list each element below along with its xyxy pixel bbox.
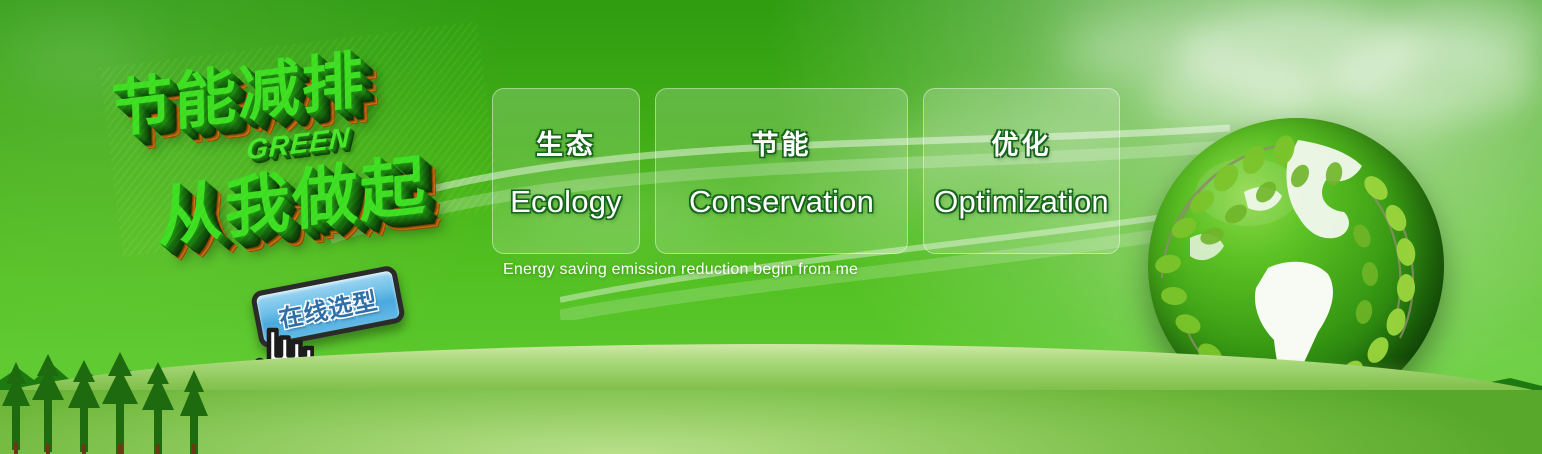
cloud-icon bbox=[0, 20, 150, 90]
feature-card-conservation[interactable]: 节能 Conservation bbox=[655, 88, 908, 254]
cloud-icon bbox=[1180, 6, 1420, 102]
feature-card-en-label: Ecology bbox=[510, 184, 622, 220]
feature-card-cn-label: 优化 bbox=[992, 123, 1052, 162]
feature-card-optimization[interactable]: 优化 Optimization bbox=[923, 88, 1120, 254]
feature-card-list: 生态 Ecology 节能 Conservation 优化 Optimizati… bbox=[492, 88, 1120, 254]
feature-card-cn-label: 节能 bbox=[752, 123, 812, 162]
headline-line-1: 节能减排 bbox=[110, 28, 366, 150]
green-leaf-globe-icon bbox=[1148, 118, 1444, 414]
cloud-icon bbox=[1390, 0, 1542, 66]
feature-card-cn-label: 生态 bbox=[536, 123, 596, 162]
hand-pointer-cursor-icon bbox=[248, 324, 314, 396]
feature-card-ecology[interactable]: 生态 Ecology bbox=[492, 88, 640, 254]
headline-artwork: 节能减排 GREEN 从我做起 bbox=[96, 36, 496, 276]
globe-drop-shadow bbox=[1154, 380, 1440, 420]
conifer-tree-group-icon bbox=[0, 350, 230, 454]
headline-texture-overlay bbox=[100, 22, 500, 257]
eco-promo-banner: 节能减排 GREEN 从我做起 在线选型 生态 Ecology 节能 Conse… bbox=[0, 0, 1542, 454]
banner-tagline: Energy saving emission reduction begin f… bbox=[503, 261, 858, 279]
cloud-icon bbox=[1060, 20, 1210, 80]
headline-line-2: 从我做起 bbox=[156, 131, 428, 261]
cloud-icon bbox=[1330, 34, 1540, 120]
feature-card-en-label: Conservation bbox=[689, 184, 874, 220]
feature-card-en-label: Optimization bbox=[934, 184, 1109, 220]
globe-sphere bbox=[1148, 118, 1444, 414]
headline-green-overlay: GREEN bbox=[246, 121, 351, 166]
online-selection-cta[interactable]: 在线选型 bbox=[248, 272, 428, 384]
